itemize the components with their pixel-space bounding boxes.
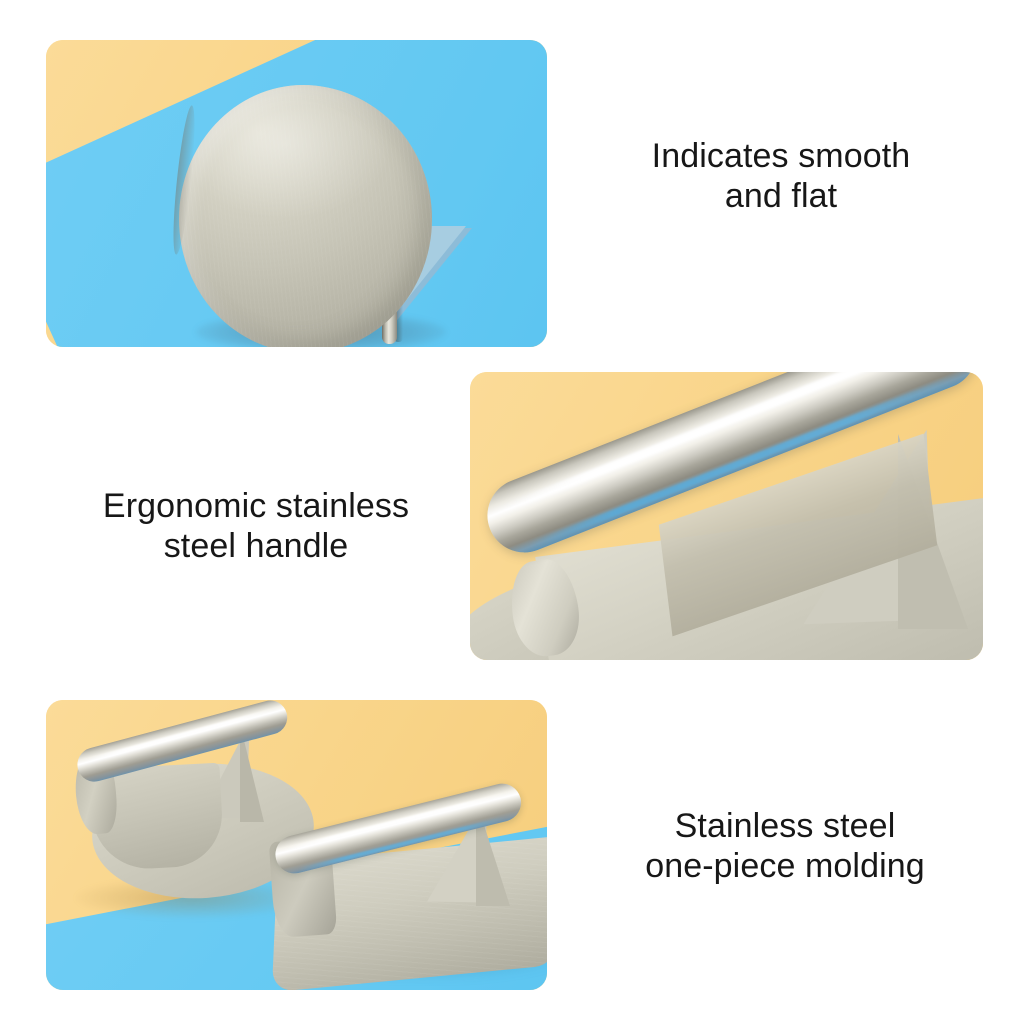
product-photo-panel-round-disc	[46, 40, 547, 347]
square-press	[268, 788, 547, 988]
two-presses-scene	[46, 700, 547, 990]
caption-ergonomic-stainless-steel-handle: Ergonomic stainless steel handle	[36, 486, 476, 566]
product-photo-panel-handle-closeup	[470, 372, 983, 660]
caption-indicates-smooth-and-flat: Indicates smooth and flat	[566, 136, 996, 216]
product-photo-panel-two-presses	[46, 700, 547, 990]
disc-specular-sheen	[179, 85, 432, 347]
caption-stainless-steel-one-piece-molding: Stainless steel one-piece molding	[570, 806, 1000, 886]
handle-macro-scene	[470, 372, 983, 660]
infographic-canvas: Indicates smooth and flat Ergonomic stai…	[0, 0, 1020, 1020]
round-press-disc	[179, 85, 432, 347]
